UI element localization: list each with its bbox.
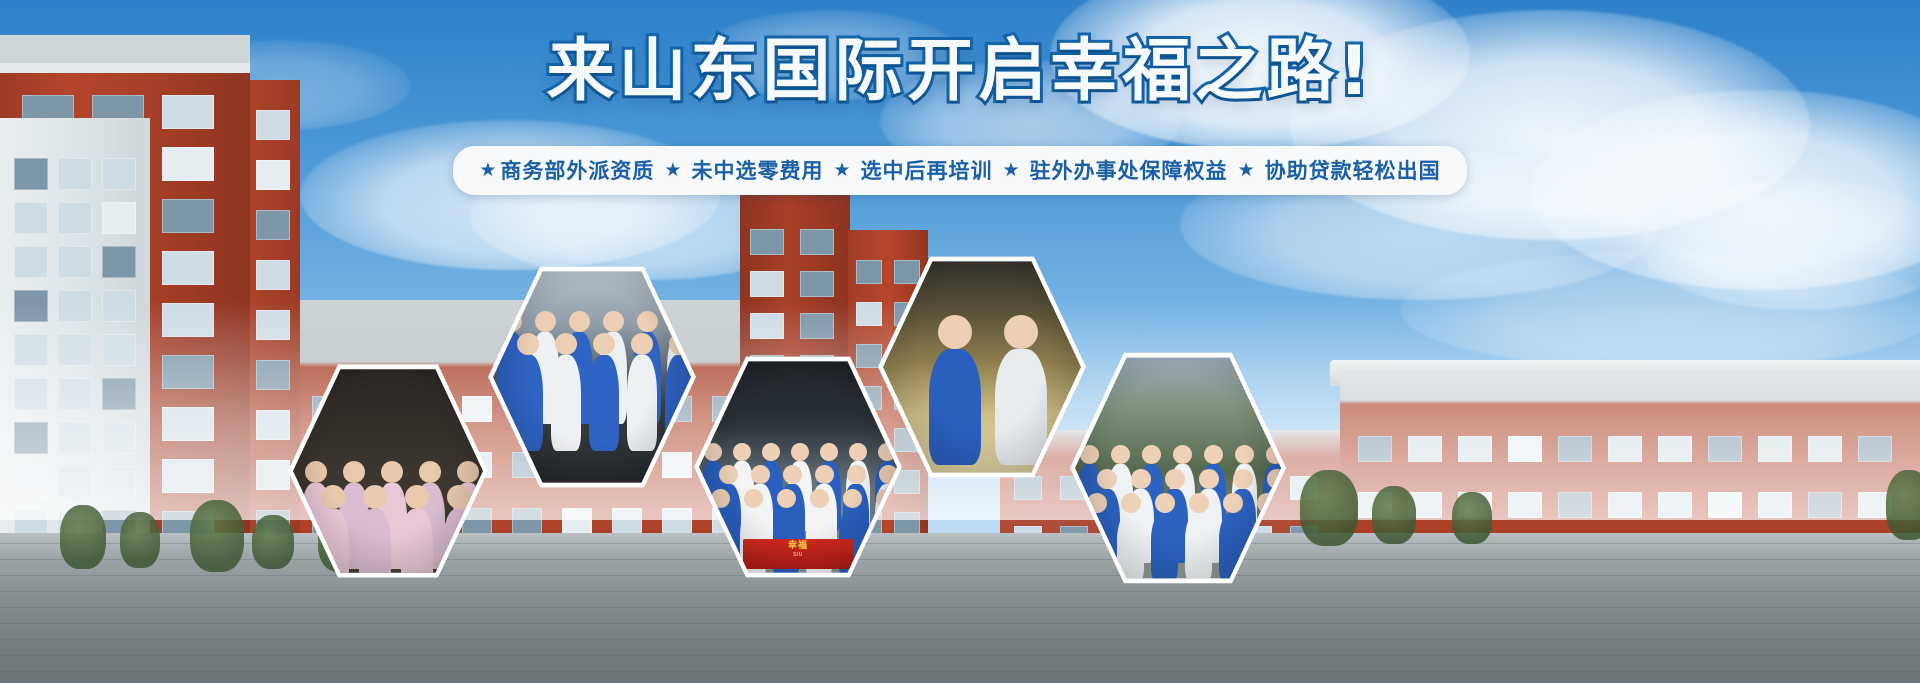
gallery-hexagon[interactable]	[1070, 348, 1286, 588]
outdoor-group-photo	[1075, 353, 1281, 583]
gallery-hexagon[interactable]: 幸福 SIU	[694, 352, 902, 582]
person-head	[671, 311, 692, 332]
person-figure	[1253, 513, 1280, 581]
gallery-hexagon[interactable]	[288, 360, 488, 582]
cooking-class-photo	[493, 267, 691, 487]
gallery-hexagon[interactable]	[878, 252, 1086, 482]
kimono-group-photo	[293, 365, 483, 577]
person-figure	[872, 508, 897, 577]
large-group-photo: 幸福 SIU	[699, 357, 897, 577]
hero-banner: 来山东国际开启幸福之路! ★商务部外派资质★未中选零费用★选中后再培训★驻外办事…	[0, 0, 1920, 683]
supermarket-staff-photo	[883, 257, 1081, 477]
gallery-hexagon[interactable]	[488, 262, 696, 492]
photo-gallery: 幸福 SIU	[0, 0, 1920, 683]
